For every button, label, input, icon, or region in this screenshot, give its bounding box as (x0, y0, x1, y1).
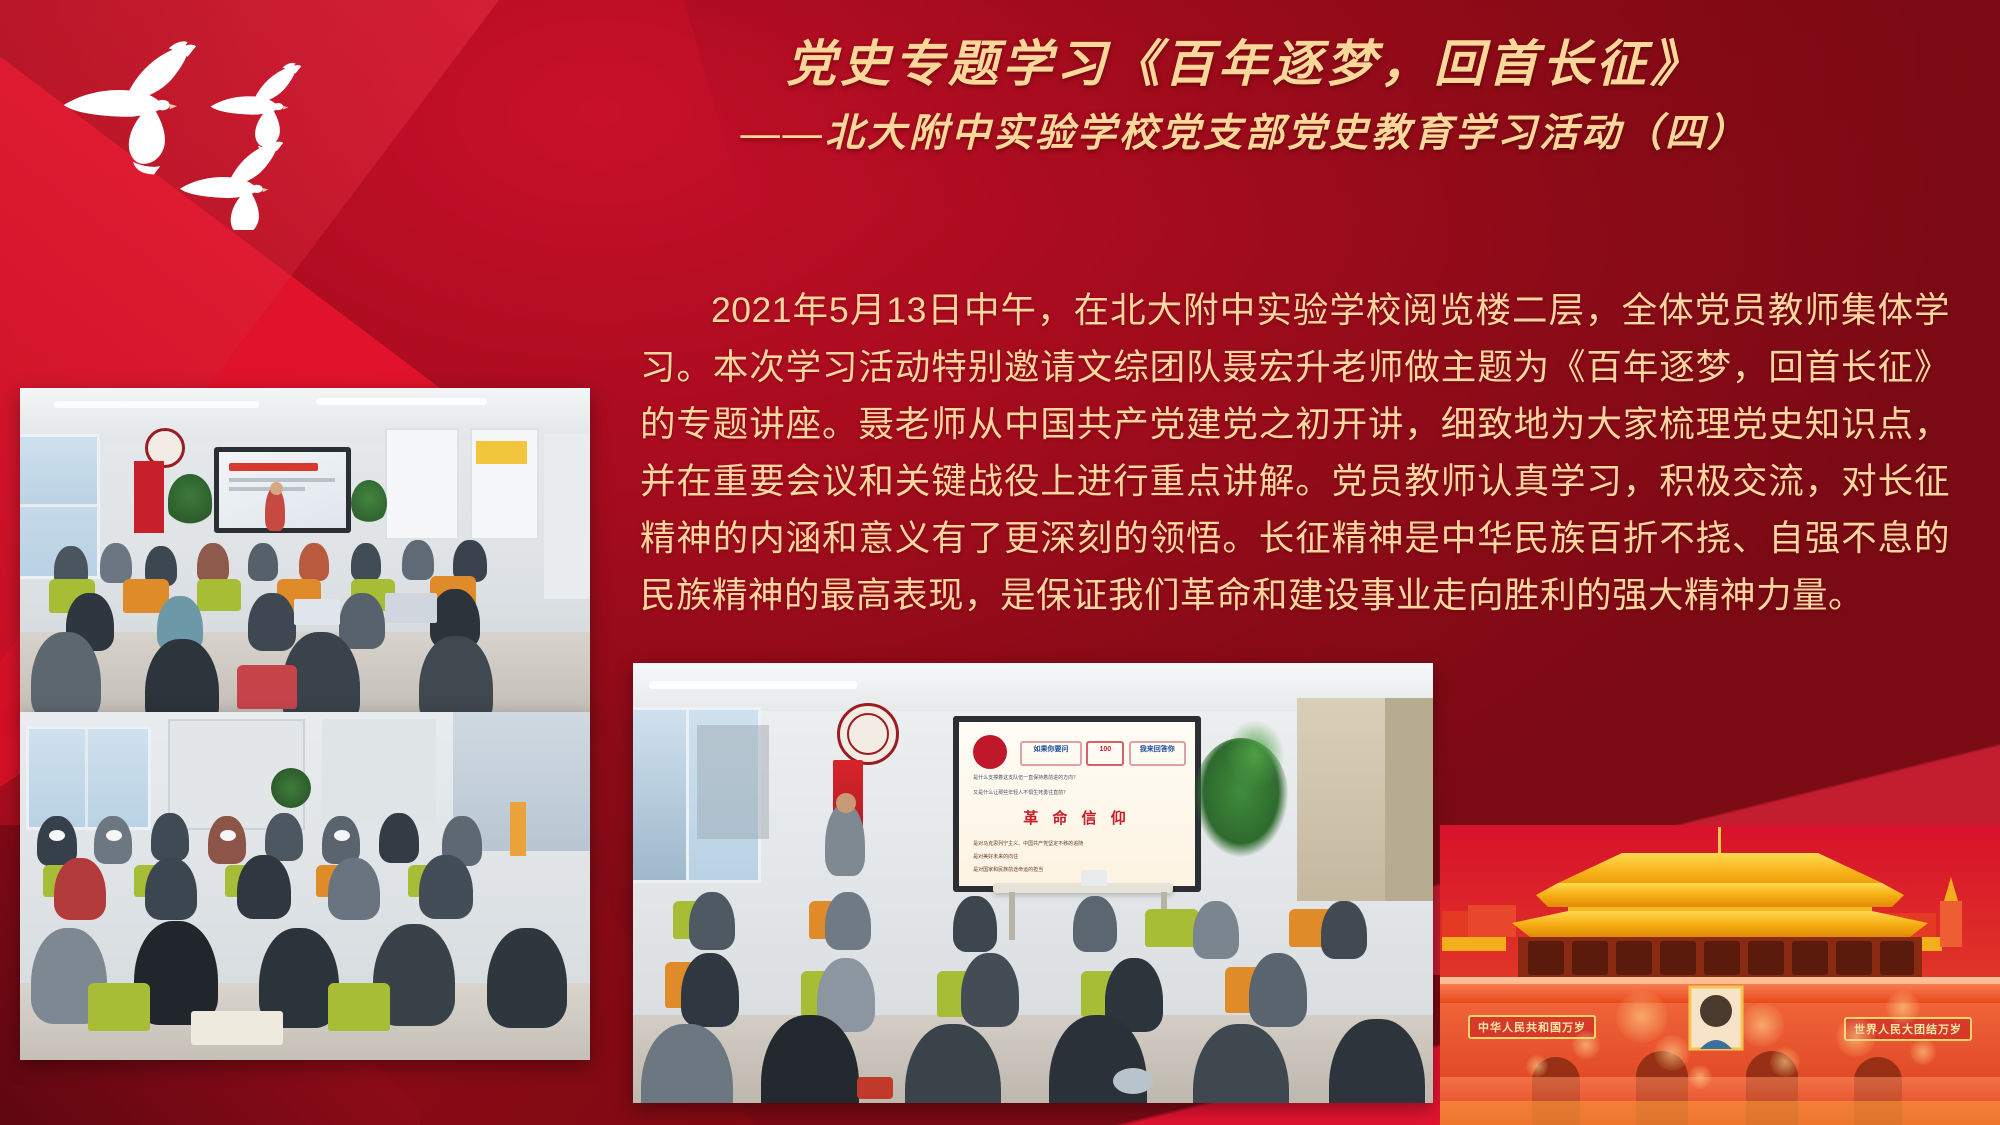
tiananmen-illustration: 中华人民共和国万岁 世界人民大团结万岁 (1440, 825, 2000, 1125)
slide-tab-center: 100 (1086, 741, 1124, 766)
page-title: 党史专题学习《百年逐梦，回首长征》 (520, 34, 1970, 95)
photo-classroom-lecture-wide (20, 388, 590, 718)
slide-question-2: 又是什么让那些年轻人不惧生死勇往直前？ (973, 789, 1181, 799)
dove-group (10, 10, 370, 230)
slide-tab-left: 如果你要问 (1020, 741, 1081, 766)
slide-tab-right: 我来回答你 (1129, 741, 1186, 766)
body-text: 2021年5月13日中午，在北大附中实验学校阅览楼二层，全体党员教师集体学习。本… (640, 282, 1950, 624)
body-paragraph: 2021年5月13日中午，在北大附中实验学校阅览楼二层，全体党员教师集体学习。本… (640, 282, 1950, 624)
slide-heading: 革 命 信 仰 (997, 807, 1157, 828)
dove-icon (10, 10, 370, 230)
headline-block: 党史专题学习《百年逐梦，回首长征》 ——北大附中实验学校党支部党史教育学习活动（… (520, 34, 1970, 160)
poster-canvas: 党史专题学习《百年逐梦，回首长征》 ——北大附中实验学校党支部党史教育学习活动（… (0, 0, 2000, 1125)
slide-answer-3: 是对国家和民族前途命运的担当 (973, 866, 1181, 875)
slide-question-1: 是什么支撑着这支队伍一直保持着前进的方向？ (973, 774, 1181, 784)
slide-answer-2: 是对美好未来的向往 (973, 853, 1181, 862)
tiananmen-gate-icon (1440, 825, 2000, 1125)
photo-classroom-audience (20, 712, 590, 1060)
photo-lecture-speaker-slide: 如果你要问 100 我来回答你 是什么支撑着这支队伍一直保持着前进的方向？ 又是… (633, 663, 1433, 1103)
slide-answer-1: 是对马克思列宁主义、中国共产党坚定不移的追随 (973, 840, 1181, 849)
page-subtitle: ——北大附中实验学校党支部党史教育学习活动（四） (520, 109, 1970, 160)
